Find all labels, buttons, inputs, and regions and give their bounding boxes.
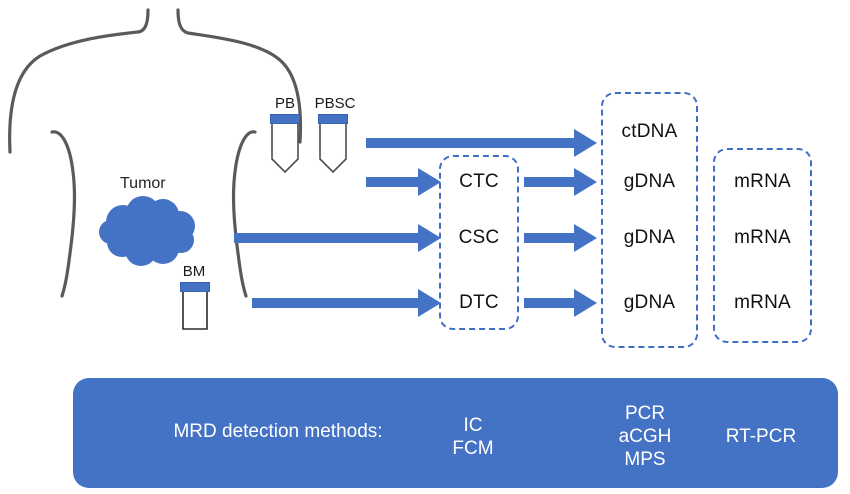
tube-pb-body	[269, 123, 301, 175]
method-fcm: FCM	[423, 437, 523, 460]
node-dtc: DTC	[439, 292, 519, 314]
arrow-bm-to-dtc	[252, 288, 442, 318]
banner-title: MRD detection methods:	[128, 420, 428, 443]
mrd-methods-banner: MRD detection methods: IC FCM PCR aCGH M…	[73, 378, 838, 488]
node-gdna-3: gDNA	[601, 292, 698, 314]
method-acgh: aCGH	[595, 425, 695, 448]
arrow-ctc-to-gdna	[524, 167, 598, 197]
node-mrna-1: mRNA	[713, 171, 812, 193]
method-ic: IC	[423, 414, 523, 437]
tumor-cloud-icon	[95, 196, 205, 266]
node-csc: CSC	[439, 227, 519, 249]
tube-bm-label: BM	[175, 263, 213, 280]
node-mrna-3: mRNA	[713, 292, 812, 314]
node-gdna-2: gDNA	[601, 227, 698, 249]
tube-pbsc-body	[317, 123, 349, 175]
tube-bm-body	[179, 291, 211, 333]
tube-pb-label: PB	[265, 95, 305, 112]
arrow-dtc-to-gdna	[524, 288, 598, 318]
arrow-pb-to-ctdna	[366, 128, 598, 158]
tumor-label: Tumor	[120, 175, 166, 193]
node-gdna-1: gDNA	[601, 171, 698, 193]
arrow-csc-to-gdna	[524, 223, 598, 253]
arrow-tumor-to-csc	[234, 223, 442, 253]
node-mrna-2: mRNA	[713, 227, 812, 249]
method-pcr: PCR	[595, 402, 695, 425]
tube-pbsc-label: PBSC	[311, 95, 359, 112]
diagram-canvas: Tumor PB PBSC BM	[0, 0, 850, 494]
node-ctdna: ctDNA	[601, 121, 698, 143]
method-rt-pcr: RT-PCR	[711, 425, 811, 448]
arrow-pbsc-to-ctc	[366, 167, 442, 197]
node-ctc: CTC	[439, 171, 519, 193]
method-mps: MPS	[595, 448, 695, 471]
